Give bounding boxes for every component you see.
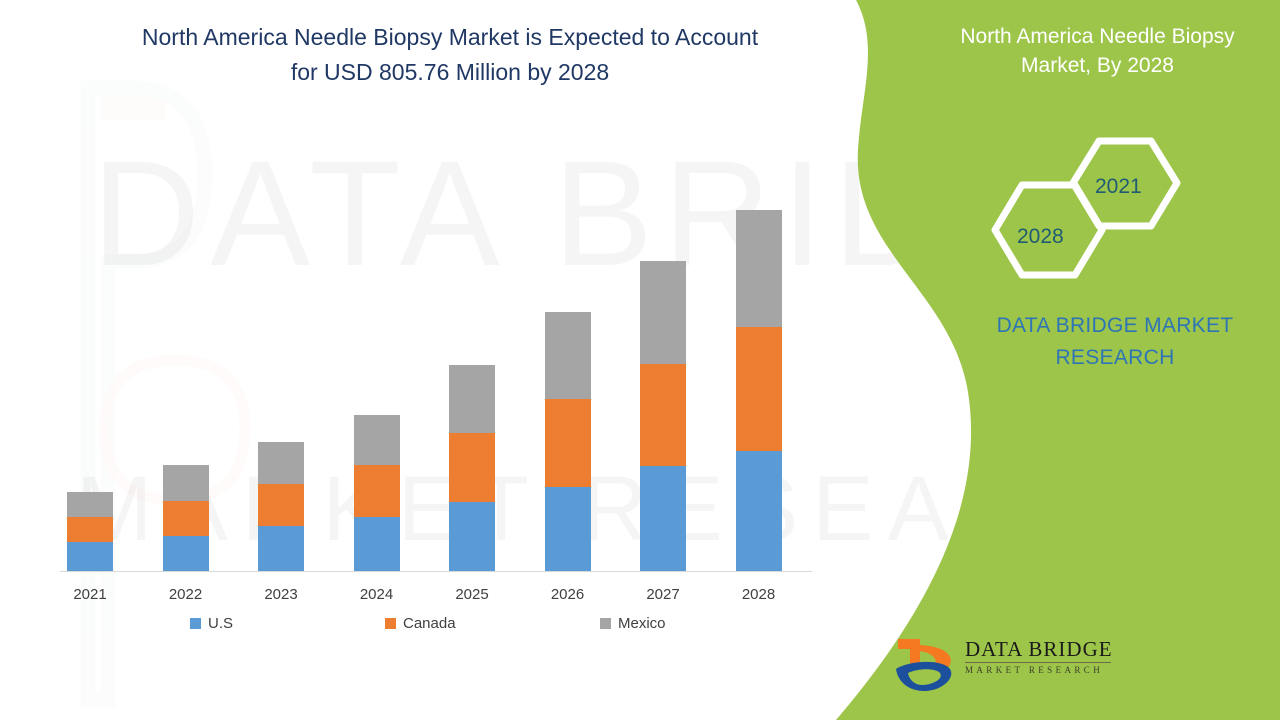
logo-mark-icon xyxy=(890,635,968,695)
legend-swatch-icon xyxy=(600,618,611,629)
bar-2027 xyxy=(640,261,686,571)
bar-segment-mexico-2023 xyxy=(258,442,304,484)
stacked-bar-chart: 20212022202320242025202620272028 U.SCana… xyxy=(0,0,860,600)
bar-segment-us-2026 xyxy=(545,487,591,571)
bar-2025 xyxy=(449,365,495,571)
bar-segment-us-2025 xyxy=(449,502,495,571)
bar-segment-mexico-2028 xyxy=(736,210,782,327)
legend-label: U.S xyxy=(208,615,233,632)
hexagon-group: 2021 2028 xyxy=(975,135,1205,295)
chart-legend: U.SCanadaMexico xyxy=(0,615,860,641)
bar-segment-us-2021 xyxy=(67,542,113,571)
x-axis-label-2022: 2022 xyxy=(146,586,226,603)
bar-2028 xyxy=(736,210,782,571)
logo-name: DATA BRIDGE xyxy=(965,637,1125,661)
bar-segment-us-2027 xyxy=(640,466,686,571)
bar-segment-mexico-2021 xyxy=(67,492,113,517)
bar-segment-mexico-2027 xyxy=(640,261,686,364)
bar-2022 xyxy=(163,465,209,571)
x-axis-label-2023: 2023 xyxy=(241,586,321,603)
bar-segment-mexico-2022 xyxy=(163,465,209,501)
panel-brand-line-2: RESEARCH xyxy=(960,342,1270,374)
panel-brand-line-1: DATA BRIDGE MARKET xyxy=(960,310,1270,342)
infographic-canvas: ​ DATA BRIDGE MARKET RESEARCH North Amer… xyxy=(0,0,1280,720)
legend-item-canada[interactable]: Canada xyxy=(385,615,456,632)
x-axis-labels: 20212022202320242025202620272028 xyxy=(0,586,860,612)
bar-2026 xyxy=(545,312,591,571)
logo-wordmark: DATA BRIDGE MARKET RESEARCH xyxy=(965,637,1125,675)
bar-segment-canada-2023 xyxy=(258,484,304,526)
x-axis-label-2026: 2026 xyxy=(528,586,608,603)
bar-2021 xyxy=(67,492,113,571)
bar-segment-mexico-2024 xyxy=(354,415,400,465)
legend-item-us[interactable]: U.S xyxy=(190,615,233,632)
panel-title-line-2: Market, By 2028 xyxy=(925,51,1270,80)
hexagon-outlines xyxy=(975,135,1205,295)
logo-tagline: MARKET RESEARCH xyxy=(965,665,1125,675)
company-logo: DATA BRIDGE MARKET RESEARCH xyxy=(890,635,1120,697)
bar-segment-us-2028 xyxy=(736,451,782,571)
x-axis-label-2024: 2024 xyxy=(337,586,417,603)
bar-segment-canada-2022 xyxy=(163,501,209,536)
logo-divider xyxy=(965,662,1111,663)
panel-brand-text: DATA BRIDGE MARKET RESEARCH xyxy=(960,310,1270,374)
bar-segment-mexico-2025 xyxy=(449,365,495,433)
bar-segment-us-2022 xyxy=(163,536,209,571)
x-axis-label-2028: 2028 xyxy=(719,586,799,603)
panel-title-line-1: North America Needle Biopsy xyxy=(925,22,1270,51)
bar-segment-mexico-2026 xyxy=(545,312,591,399)
x-axis-line xyxy=(60,571,812,572)
legend-swatch-icon xyxy=(190,618,201,629)
bar-segment-canada-2024 xyxy=(354,465,400,517)
x-axis-label-2027: 2027 xyxy=(623,586,703,603)
bar-segment-canada-2028 xyxy=(736,327,782,451)
x-axis-label-2021: 2021 xyxy=(50,586,130,603)
bar-segment-us-2024 xyxy=(354,517,400,571)
legend-swatch-icon xyxy=(385,618,396,629)
bar-segment-canada-2026 xyxy=(545,399,591,487)
x-axis-label-2025: 2025 xyxy=(432,586,512,603)
bar-2023 xyxy=(258,442,304,571)
legend-label: Mexico xyxy=(618,615,666,632)
bar-segment-canada-2027 xyxy=(640,364,686,466)
hexagon-2028-label: 2028 xyxy=(1017,225,1064,249)
legend-item-mexico[interactable]: Mexico xyxy=(600,615,666,632)
bar-2024 xyxy=(354,415,400,571)
bar-segment-us-2023 xyxy=(258,526,304,571)
bar-segment-canada-2025 xyxy=(449,433,495,502)
bar-segment-canada-2021 xyxy=(67,517,113,542)
panel-title: North America Needle Biopsy Market, By 2… xyxy=(925,22,1270,80)
hexagon-2021-label: 2021 xyxy=(1095,175,1142,199)
legend-label: Canada xyxy=(403,615,456,632)
